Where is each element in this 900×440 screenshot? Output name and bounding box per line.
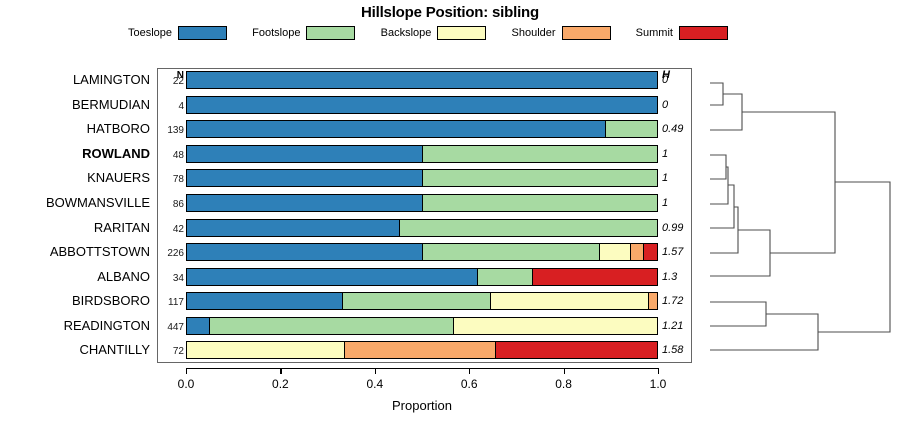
bar-segment-toeslope xyxy=(187,195,422,211)
stacked-bar[interactable] xyxy=(186,96,658,114)
x-axis-tick xyxy=(564,368,565,374)
bar-segment-footslope xyxy=(209,318,452,334)
n-value: 4 xyxy=(160,101,184,112)
category-label[interactable]: LAMINGTON xyxy=(0,72,150,88)
page-title: Hillslope Position: sibling xyxy=(0,4,900,21)
legend-label: Summit xyxy=(636,27,673,39)
bar-segment-toeslope xyxy=(187,170,422,186)
bar-segment-footslope xyxy=(342,293,490,309)
bar-segment-footslope xyxy=(422,170,657,186)
bar-segment-shoulder xyxy=(630,244,643,260)
h-value: 1 xyxy=(662,197,698,209)
bar-segment-toeslope xyxy=(187,293,342,309)
bar-segment-shoulder xyxy=(648,293,657,309)
legend-swatch xyxy=(306,26,355,40)
bar-segment-footslope xyxy=(477,269,531,285)
bar-segment-backslope xyxy=(187,342,344,358)
x-axis-tick xyxy=(186,368,187,374)
category-label[interactable]: ROWLAND xyxy=(0,146,150,162)
n-column-header: N xyxy=(160,70,184,81)
bar-segment-toeslope xyxy=(187,220,399,236)
bar-segment-toeslope xyxy=(187,318,209,334)
x-axis-tick xyxy=(375,368,376,374)
x-axis-tick xyxy=(280,368,281,374)
stacked-bar[interactable] xyxy=(186,243,658,261)
bar-segment-summit xyxy=(495,342,657,358)
legend-swatch xyxy=(562,26,611,40)
x-axis-tick-label: 0.8 xyxy=(544,377,584,391)
stacked-bar[interactable] xyxy=(186,71,658,89)
stacked-bar[interactable] xyxy=(186,145,658,163)
legend-item-footslope[interactable]: Footslope xyxy=(252,26,355,40)
x-axis-tick xyxy=(469,368,470,374)
stacked-bar[interactable] xyxy=(186,169,658,187)
bar-segment-shoulder xyxy=(344,342,495,358)
bar-segment-footslope xyxy=(422,146,657,162)
category-label[interactable]: READINGTON xyxy=(0,318,150,334)
legend-label: Toeslope xyxy=(128,27,172,39)
category-label[interactable]: CHANTILLY xyxy=(0,342,150,358)
legend-item-backslope[interactable]: Backslope xyxy=(381,26,487,40)
bar-segment-toeslope xyxy=(187,97,657,113)
bar-segment-footslope xyxy=(422,244,599,260)
bar-segment-backslope xyxy=(490,293,647,309)
legend-label: Footslope xyxy=(252,27,300,39)
category-label[interactable]: ALBANO xyxy=(0,269,150,285)
legend-item-toeslope[interactable]: Toeslope xyxy=(128,26,227,40)
category-label[interactable]: HATBORO xyxy=(0,121,150,137)
bar-segment-summit xyxy=(643,244,657,260)
h-value: 0 xyxy=(662,99,698,111)
bar-segment-summit xyxy=(532,269,657,285)
h-value: 0.99 xyxy=(662,222,698,234)
legend-label: Shoulder xyxy=(512,27,556,39)
n-value: 42 xyxy=(160,224,184,235)
stacked-bar[interactable] xyxy=(186,292,658,310)
x-axis-tick-label: 0.2 xyxy=(260,377,300,391)
legend-label: Backslope xyxy=(381,27,432,39)
x-axis-tick-label: 0.6 xyxy=(449,377,489,391)
stacked-bar[interactable] xyxy=(186,219,658,237)
h-value: 1.3 xyxy=(662,271,698,283)
category-label[interactable]: RARITAN xyxy=(0,220,150,236)
bar-segment-footslope xyxy=(605,121,657,137)
h-value: 1 xyxy=(662,148,698,160)
bar-segment-backslope xyxy=(453,318,657,334)
legend-item-shoulder[interactable]: Shoulder xyxy=(512,26,611,40)
legend-swatch xyxy=(679,26,728,40)
bar-segment-toeslope xyxy=(187,146,422,162)
category-label[interactable]: ABBOTTSTOWN xyxy=(0,244,150,260)
n-value: 139 xyxy=(160,125,184,136)
n-value: 86 xyxy=(160,199,184,210)
bar-segment-footslope xyxy=(399,220,657,236)
legend-item-summit[interactable]: Summit xyxy=(636,26,728,40)
n-value: 72 xyxy=(160,346,184,357)
n-value: 447 xyxy=(160,322,184,333)
x-axis-tick-label: 0.4 xyxy=(355,377,395,391)
category-label[interactable]: BERMUDIAN xyxy=(0,97,150,113)
h-value: 1.21 xyxy=(662,320,698,332)
h-value: 1.58 xyxy=(662,344,698,356)
category-label[interactable]: KNAUERS xyxy=(0,170,150,186)
legend-swatch xyxy=(178,26,227,40)
stacked-bar[interactable] xyxy=(186,194,658,212)
bar-segment-footslope xyxy=(422,195,657,211)
category-label[interactable]: BIRDSBORO xyxy=(0,293,150,309)
h-column-header: H xyxy=(662,69,698,81)
bar-segment-toeslope xyxy=(187,72,657,88)
dendrogram xyxy=(700,60,900,380)
stacked-bar[interactable] xyxy=(186,268,658,286)
h-value: 1 xyxy=(662,172,698,184)
x-axis-line xyxy=(186,368,658,369)
x-axis-tick-label: 0.0 xyxy=(166,377,206,391)
legend-swatch xyxy=(437,26,486,40)
x-axis-tick-label: 1.0 xyxy=(638,377,678,391)
h-value: 1.57 xyxy=(662,246,698,258)
n-value: 34 xyxy=(160,273,184,284)
h-value: 0.49 xyxy=(662,123,698,135)
bar-segment-backslope xyxy=(599,244,630,260)
stacked-bar[interactable] xyxy=(186,120,658,138)
n-value: 226 xyxy=(160,248,184,259)
legend: ToeslopeFootslopeBackslopeShoulderSummit xyxy=(128,24,728,42)
category-label[interactable]: BOWMANSVILLE xyxy=(0,195,150,211)
h-value: 1.72 xyxy=(662,295,698,307)
stacked-bar[interactable] xyxy=(186,317,658,335)
x-axis-tick xyxy=(658,368,659,374)
x-axis-title: Proportion xyxy=(186,398,658,413)
dendrogram-svg xyxy=(700,60,900,380)
n-value: 48 xyxy=(160,150,184,161)
stacked-bar[interactable] xyxy=(186,341,658,359)
n-value: 117 xyxy=(160,297,184,308)
bar-segment-toeslope xyxy=(187,269,477,285)
bar-segment-toeslope xyxy=(187,121,605,137)
bar-segment-toeslope xyxy=(187,244,422,260)
n-value: 78 xyxy=(160,174,184,185)
